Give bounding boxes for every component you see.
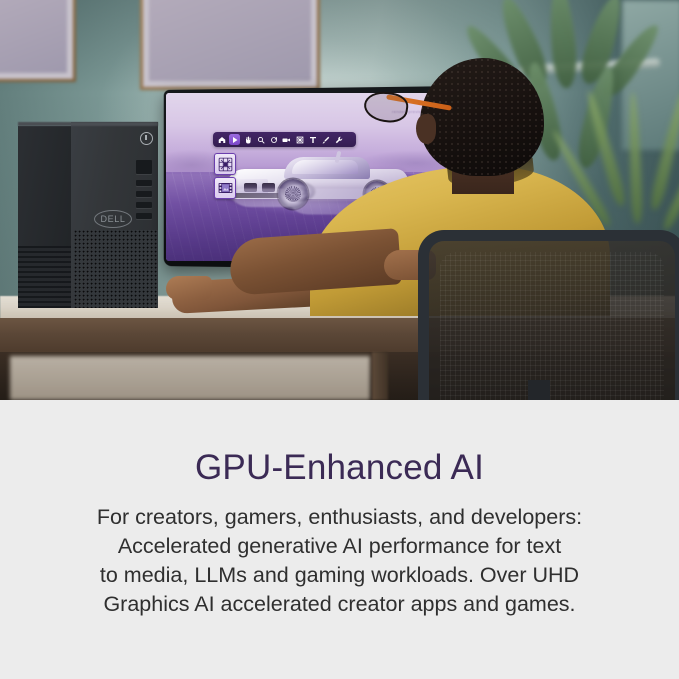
tower-top-edge [18,122,158,126]
dell-desktop-tower: DELL [18,122,158,308]
magnifier-icon[interactable] [255,134,266,145]
camera-icon[interactable] [281,134,292,145]
description-line: Accelerated generative AI performance fo… [28,532,651,561]
orbit-icon[interactable] [268,134,279,145]
person-ear [416,114,436,144]
frame-artwork [149,0,311,81]
desk-leg [372,352,388,400]
text-tool-icon[interactable] [307,134,318,145]
person-right-arm [228,228,401,296]
play-cursor-icon[interactable] [229,134,240,145]
wall-art-frame-right [140,0,320,90]
home-icon[interactable] [216,134,227,145]
floor-panel [10,356,370,400]
mesh-grid-icon[interactable] [294,134,305,145]
power-button-icon[interactable] [140,132,153,145]
chair-backrest-frame [418,230,679,400]
tower-side-panel [18,126,72,308]
tower-front-mesh-vent [74,230,158,308]
description-line: to media, LLMs and gaming workloads. Ove… [28,561,651,590]
tower-side-vent [18,246,72,308]
description-line: Graphics AI accelerated creator apps and… [28,590,651,619]
feature-title: GPU-Enhanced AI [0,448,679,488]
node-editor-icon[interactable] [214,153,236,175]
dell-wordmark: DELL [101,214,126,224]
office-chair [418,230,664,400]
hero-photo: DELL [0,0,679,400]
wrench-icon[interactable] [333,134,344,145]
caption-panel: GPU-Enhanced AI For creators, gamers, en… [0,400,679,679]
person-left-hand [166,276,212,300]
front-io-ports [136,160,154,222]
description-line: For creators, gamers, enthusiasts, and d… [28,503,651,532]
wall-art-frame-left [0,0,76,82]
dell-logo: DELL [94,210,132,228]
chair-post [528,380,550,400]
chair-mesh-back [440,252,664,400]
media-filmstrip-icon[interactable] [214,177,236,199]
car-windshield [292,160,358,174]
brush-icon[interactable] [320,134,331,145]
app-toolbar[interactable] [213,132,356,147]
hand-pan-icon[interactable] [242,134,253,145]
product-feature-card: DELL [0,0,679,679]
person-head [420,58,544,176]
hair-texture [420,58,544,176]
frame-artwork [0,0,67,73]
feature-description: For creators, gamers, enthusiasts, and d… [28,503,651,619]
